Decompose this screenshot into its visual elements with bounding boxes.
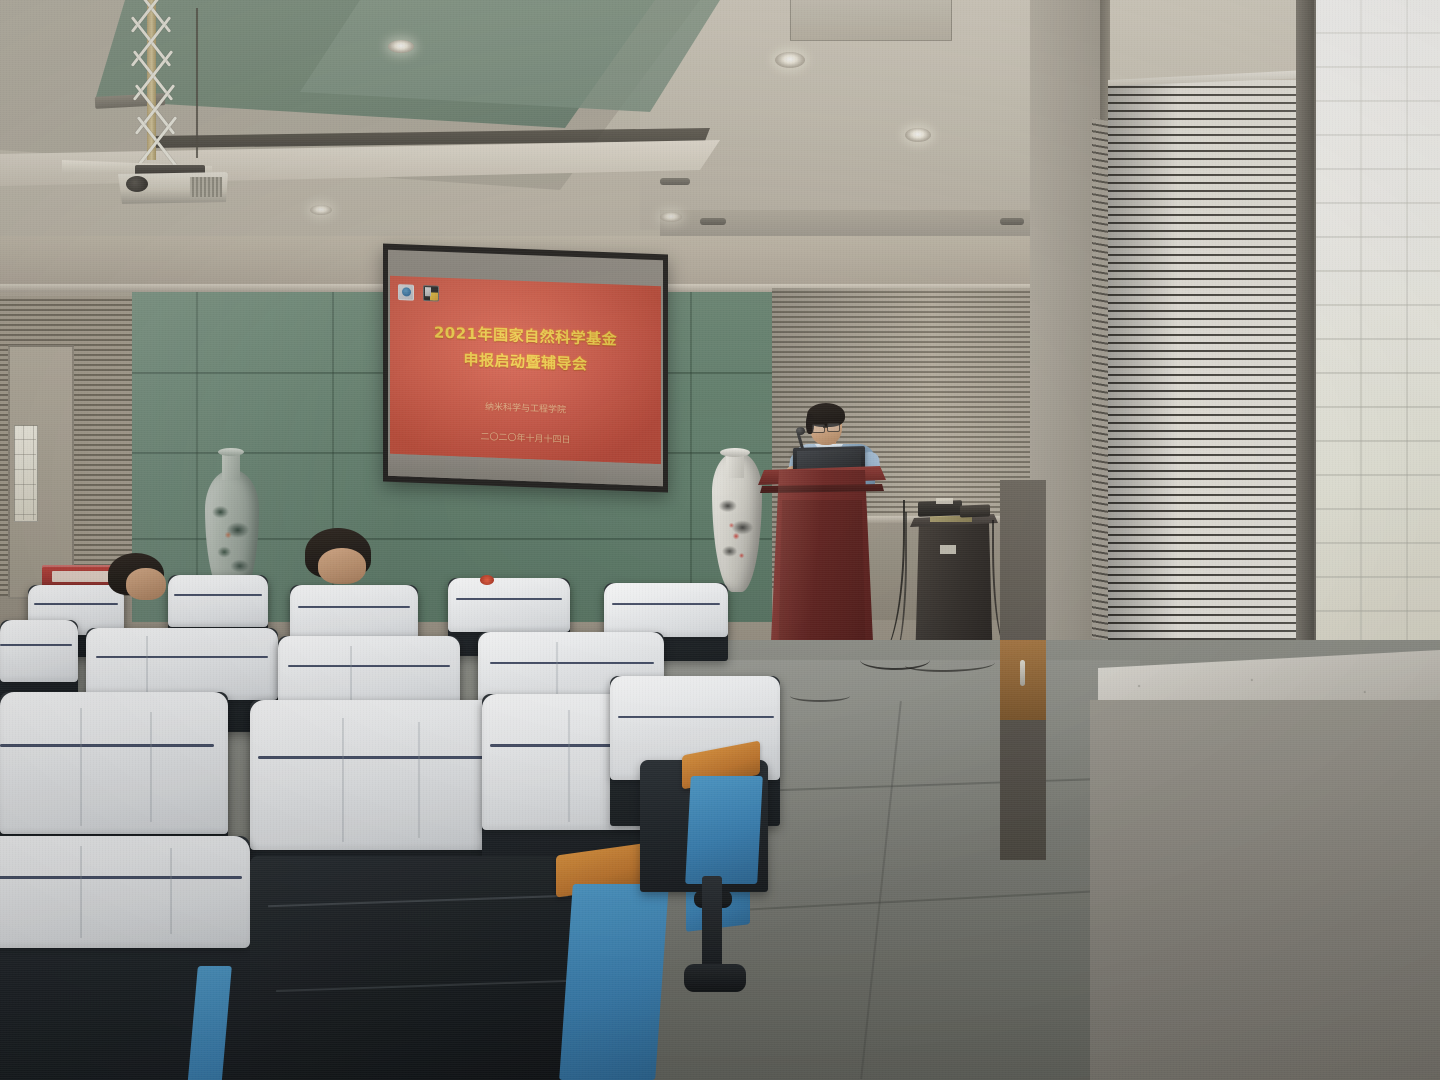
red-wall-box-label — [52, 571, 110, 582]
projector-vents — [190, 177, 222, 197]
downlight-icon — [388, 40, 414, 53]
attendee-head — [126, 568, 166, 600]
lower-right-wall — [1090, 700, 1440, 1080]
av-device — [960, 504, 990, 517]
ceiling-vent-slot — [700, 218, 726, 225]
ceiling-vent-slot — [1000, 218, 1024, 225]
seat-leg — [702, 876, 722, 972]
seat-frame-panel — [250, 856, 590, 1080]
vase-right-rim — [720, 448, 750, 457]
slat-wall-shading — [1108, 80, 1308, 660]
window-glare — [1316, 0, 1440, 660]
door-handle-icon[interactable] — [1020, 660, 1025, 686]
seat-cushion — [559, 884, 669, 1080]
glasses-icon — [827, 423, 840, 432]
ceiling-vent-slot — [660, 178, 690, 185]
downlight-icon — [905, 128, 931, 142]
red-exit-light-icon — [480, 575, 494, 585]
microphone-icon — [796, 427, 805, 435]
downlight-icon — [775, 52, 805, 68]
window-mullion — [1296, 0, 1314, 700]
ceiling-air-vent — [790, 0, 952, 41]
laptop-screen — [797, 449, 861, 469]
conference-room-photo: 2021年国家自然科学基金 申报启动暨辅导会 纳米科学与工程学院 二〇二〇年十月… — [0, 0, 1440, 1080]
projector-scissor-lift — [92, 0, 214, 175]
device-label — [936, 498, 953, 504]
door-vision-panel-grid — [14, 425, 36, 520]
vase-left-neck — [222, 452, 240, 480]
attendee-head — [318, 548, 366, 584]
floor-cable — [790, 690, 850, 702]
lift-cable — [196, 8, 198, 158]
cabinet-label — [940, 545, 956, 554]
slide-vignette — [390, 276, 661, 464]
glasses-bridge — [823, 426, 828, 428]
projector-lens — [126, 176, 148, 192]
downlight-icon — [660, 212, 682, 222]
downlight-icon — [310, 205, 332, 215]
seat-foot — [684, 964, 746, 992]
vase-left-rim — [218, 448, 244, 456]
seat-cushion — [685, 776, 763, 884]
